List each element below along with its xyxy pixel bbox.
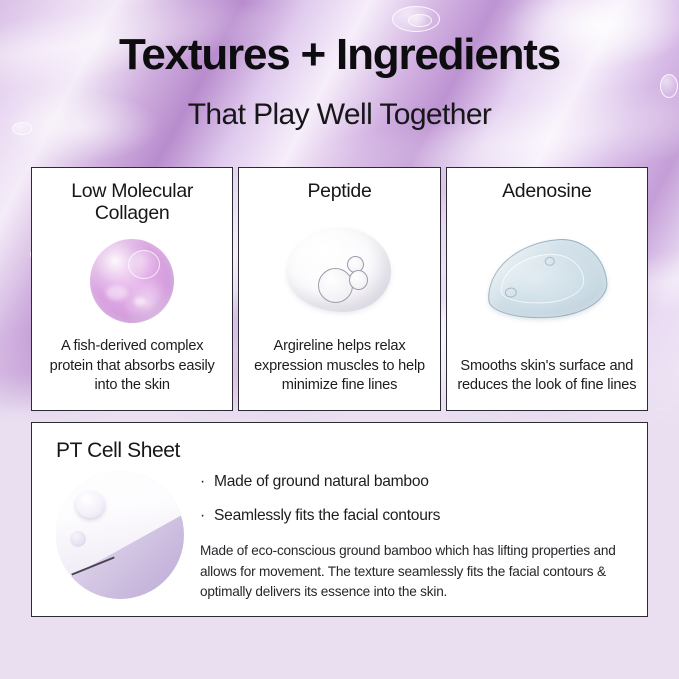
card-description: A fish-derived complex protein that abso… <box>40 337 224 410</box>
bullet-dot-icon: · <box>200 473 214 491</box>
infographic-root: Textures + Ingredients That Play Well To… <box>0 0 679 679</box>
card-title: Low Molecular Collagen <box>40 180 224 224</box>
card-description: Smooths skin's surface and reduces the l… <box>455 357 639 410</box>
blue-gel-droplet-icon <box>455 202 639 356</box>
ingredient-card-adenosine: Adenosine Smooths skin's surface and red… <box>446 167 648 411</box>
panel-title: PT Cell Sheet <box>56 439 627 463</box>
pt-cell-sheet-panel: PT Cell Sheet · Made of ground natural b… <box>31 422 648 617</box>
page-title: Textures + Ingredients <box>0 30 679 80</box>
card-title: Peptide <box>307 180 371 202</box>
card-title: Adenosine <box>502 180 591 202</box>
bullet-dot-icon: · <box>200 507 214 525</box>
page-subtitle: That Play Well Together <box>0 98 679 132</box>
ingredient-card-row: Low Molecular Collagen A fish-derived co… <box>31 167 648 411</box>
panel-paragraph: Made of eco-conscious ground bamboo whic… <box>200 541 627 603</box>
ingredient-card-collagen: Low Molecular Collagen A fish-derived co… <box>31 167 233 411</box>
white-cream-blob-icon <box>247 202 431 337</box>
list-item: · Made of ground natural bamboo <box>200 473 627 491</box>
card-description: Argireline helps relax expression muscle… <box>247 337 431 410</box>
bullet-text: Seamlessly fits the facial contours <box>214 507 440 525</box>
ingredient-card-peptide: Peptide Argireline helps relax expressio… <box>238 167 440 411</box>
pt-cell-sheet-photo <box>56 471 184 599</box>
list-item: · Seamlessly fits the facial contours <box>200 507 627 525</box>
bullet-text: Made of ground natural bamboo <box>214 473 429 491</box>
purple-bubble-icon <box>40 224 224 337</box>
